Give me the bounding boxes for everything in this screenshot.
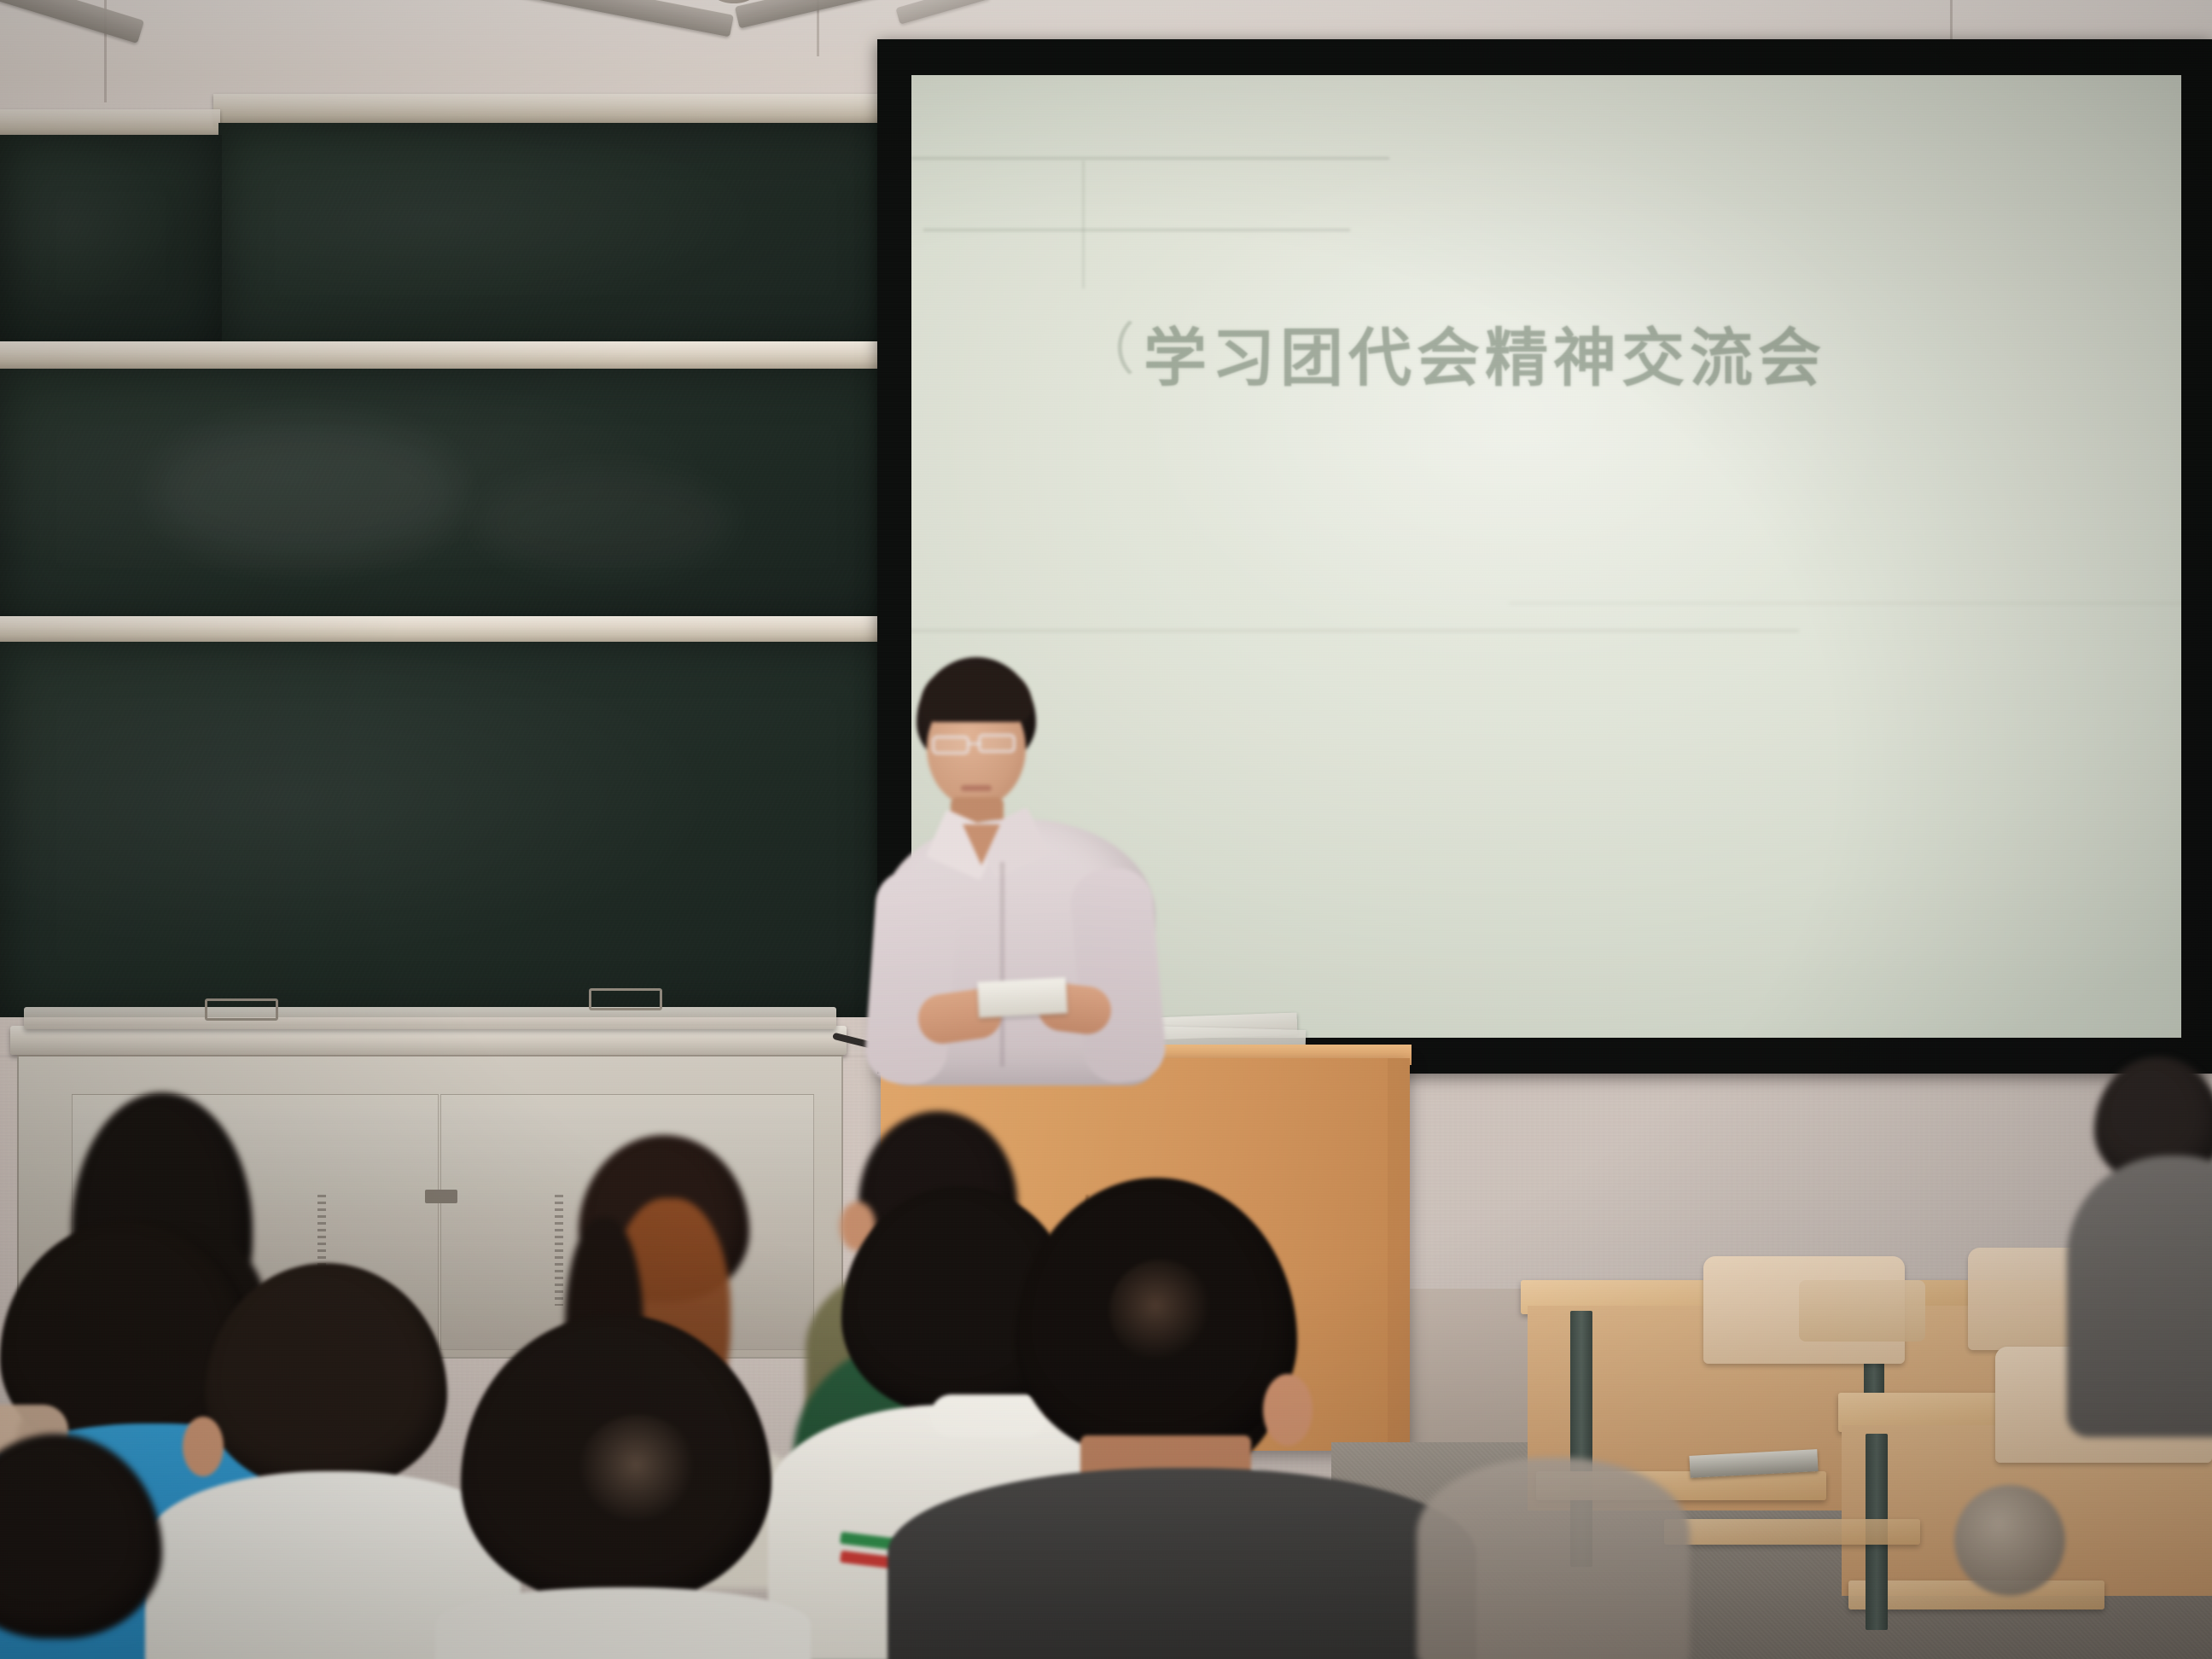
blackboard-upper-left <box>0 135 222 352</box>
audience-ponytail <box>427 1314 819 1659</box>
bag-under-desk <box>1954 1485 2065 1596</box>
chalk-rail-top-left <box>0 109 220 138</box>
cabinet-handle <box>425 1190 457 1203</box>
blackboard-texture <box>0 135 222 352</box>
fan-blade <box>486 0 734 37</box>
screen-crease <box>1082 160 1085 288</box>
audience-hair <box>205 1263 447 1490</box>
blackboard-upper <box>218 123 893 352</box>
presenter-fringe <box>920 667 1033 722</box>
chalk-rail-top <box>213 94 888 126</box>
audience-far-left-partial <box>0 1434 171 1659</box>
presenter-mouth <box>961 785 992 791</box>
cabinet-clip <box>589 988 662 1010</box>
blackboard-lower-strip <box>0 642 893 1017</box>
audience-hair-swirl <box>1109 1260 1212 1362</box>
fan-blade <box>895 0 990 25</box>
chalk-rail-middle <box>0 341 893 372</box>
blackboard-texture <box>218 123 893 352</box>
media-cabinet-top-lip <box>24 1007 836 1029</box>
lecture-desk-shelf-mid-2 <box>1664 1519 1920 1545</box>
audience-far-right <box>2082 1057 2212 1432</box>
screen-crease <box>911 157 1389 160</box>
fan-blade <box>0 0 144 44</box>
audience-dark-polo <box>922 1178 1442 1659</box>
audience-top <box>435 1587 811 1659</box>
audience-hair-crown <box>579 1415 698 1526</box>
blackboard-texture <box>0 642 893 1017</box>
slide-title-text: 学习团代会精神交流会 <box>1144 307 1826 399</box>
glasses-lens-left <box>932 736 969 754</box>
presenter-left-arm <box>863 868 959 1086</box>
presenter-held-paper <box>977 977 1068 1017</box>
folding-seat-pad <box>1799 1280 1925 1342</box>
chalk-rail-bottom <box>0 616 905 645</box>
audience-top <box>2067 1155 2212 1437</box>
glasses-bridge <box>968 742 981 745</box>
ceiling-fan-far-right <box>896 0 998 34</box>
glasses-lens-right <box>978 734 1016 753</box>
chalk-smudge <box>154 420 461 565</box>
screen-hotspot <box>1133 143 1901 672</box>
blackboard-lower <box>0 369 893 625</box>
media-cabinet-top <box>10 1026 847 1055</box>
ceiling-fan-left <box>0 0 230 85</box>
presenter <box>870 657 1178 1084</box>
wall-seam-vertical-3 <box>1950 0 1953 41</box>
cabinet-clip <box>205 998 278 1021</box>
classroom-photo: （ 学习团代会精神交流会 <box>0 0 2212 1659</box>
audience-hair <box>0 1434 162 1639</box>
audience-ear <box>1263 1374 1313 1446</box>
chalk-smudge <box>478 471 734 573</box>
audience-top <box>1417 1458 1690 1659</box>
presenter-shirt-placket <box>1000 862 1004 1067</box>
audience-behind-podium <box>1417 1406 1690 1659</box>
audience-top <box>888 1468 1476 1659</box>
audience-ear <box>183 1417 224 1476</box>
slide-decoration-glyph: （ <box>1079 304 1135 386</box>
